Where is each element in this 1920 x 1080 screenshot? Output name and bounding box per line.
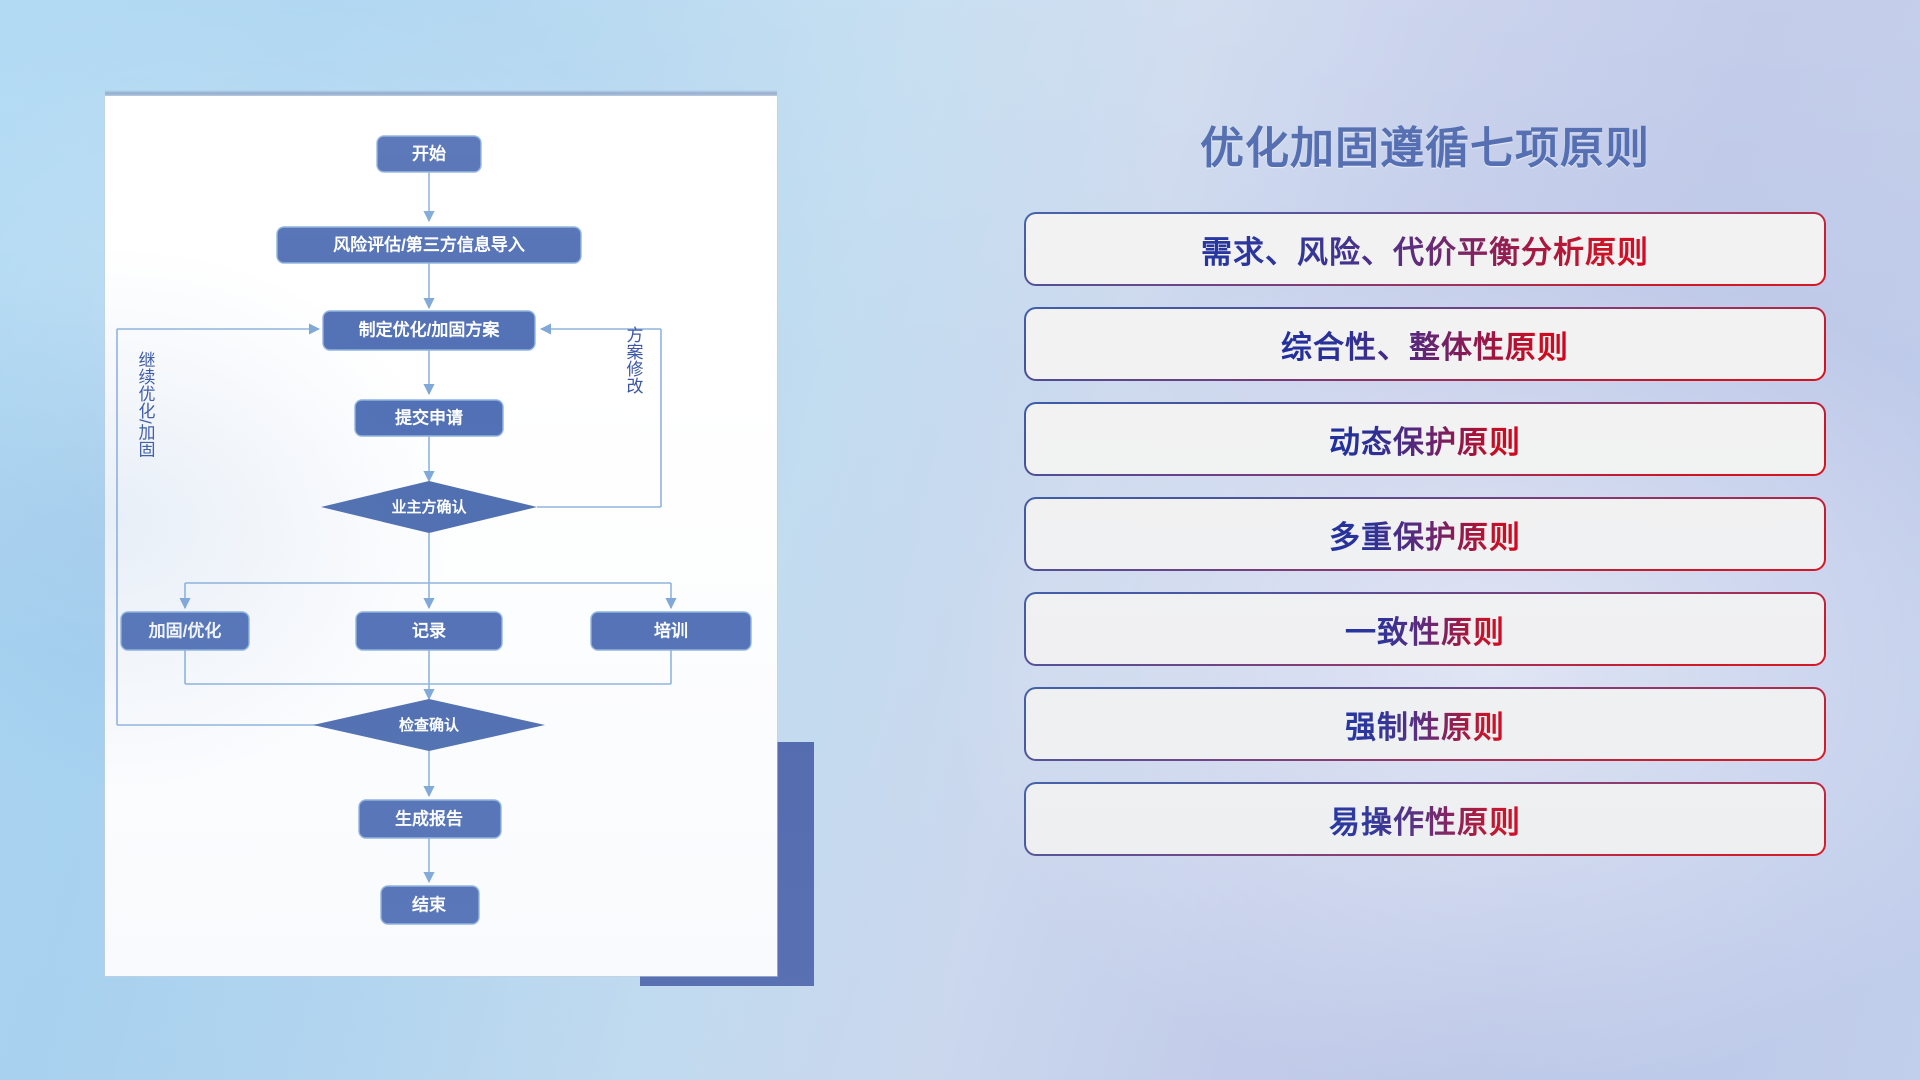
principle-item[interactable]: 强制性原则: [1024, 687, 1826, 761]
principle-item[interactable]: 易操作性原则: [1024, 782, 1826, 856]
flow-node-end-label: 结束: [412, 894, 446, 914]
principle-item-inner: 强制性原则: [1026, 689, 1824, 759]
principle-item[interactable]: 需求、风险、代价平衡分析原则: [1024, 212, 1826, 286]
principle-item-inner: 易操作性原则: [1026, 784, 1824, 854]
principle-item-inner: 多重保护原则: [1026, 499, 1824, 569]
flow-node-plan-label: 制定优化/加固方案: [359, 319, 501, 339]
flowchart-card: 开始 风险评估/第三方信息导入 制定优化/加固方案 提交申请 业主方确认: [105, 96, 777, 976]
flowchart-svg: 开始 风险评估/第三方信息导入 制定优化/加固方案 提交申请 业主方确认: [105, 96, 777, 976]
flow-node-submit[interactable]: 提交申请: [355, 400, 503, 436]
flow-node-check[interactable]: 检查确认: [313, 699, 545, 751]
principle-item-inner: 一致性原则: [1026, 594, 1824, 664]
principle-item-label: 综合性、整体性原则: [1281, 322, 1569, 367]
edge-label-continue-optimize: 继续优化/加固: [136, 351, 156, 458]
flow-node-record[interactable]: 记录: [356, 612, 502, 650]
principle-item-label: 多重保护原则: [1329, 512, 1521, 557]
flow-node-risk[interactable]: 风险评估/第三方信息导入: [277, 227, 581, 263]
flow-node-training[interactable]: 培训: [591, 612, 751, 650]
principle-item-label: 动态保护原则: [1329, 417, 1521, 462]
flow-node-plan[interactable]: 制定优化/加固方案: [323, 311, 535, 350]
principle-item-label: 强制性原则: [1345, 702, 1505, 747]
flow-node-risk-label: 风险评估/第三方信息导入: [333, 234, 525, 254]
slide-canvas: 开始 风险评估/第三方信息导入 制定优化/加固方案 提交申请 业主方确认: [0, 0, 1920, 1080]
principles-list: 需求、风险、代价平衡分析原则 综合性、整体性原则 动态保护原则 多重保护原则: [1020, 212, 1830, 856]
principle-item-label: 需求、风险、代价平衡分析原则: [1201, 227, 1649, 272]
principle-item-label: 易操作性原则: [1329, 797, 1521, 842]
flow-node-submit-label: 提交申请: [395, 407, 463, 427]
flow-node-owner-confirm-label: 业主方确认: [391, 498, 467, 516]
principle-item[interactable]: 动态保护原则: [1024, 402, 1826, 476]
principle-item[interactable]: 一致性原则: [1024, 592, 1826, 666]
flow-node-report[interactable]: 生成报告: [359, 800, 501, 838]
principle-item-inner: 需求、风险、代价平衡分析原则: [1026, 214, 1824, 284]
flow-node-report-label: 生成报告: [395, 808, 463, 828]
flow-node-training-label: 培训: [654, 620, 688, 640]
flow-node-start-label: 开始: [412, 143, 446, 163]
flow-node-start[interactable]: 开始: [377, 136, 481, 172]
principle-item-inner: 综合性、整体性原则: [1026, 309, 1824, 379]
principle-item[interactable]: 多重保护原则: [1024, 497, 1826, 571]
flow-node-reinforce[interactable]: 加固/优化: [121, 612, 249, 650]
principles-panel: 优化加固遵循七项原则 需求、风险、代价平衡分析原则 综合性、整体性原则 动态保护…: [1020, 96, 1830, 1006]
flow-node-end[interactable]: 结束: [381, 886, 479, 924]
principle-item[interactable]: 综合性、整体性原则: [1024, 307, 1826, 381]
flow-node-owner-confirm[interactable]: 业主方确认: [321, 481, 537, 533]
flow-node-reinforce-label: 加固/优化: [148, 620, 222, 640]
edge-label-plan-revision: 方案修改: [624, 326, 644, 394]
flow-node-check-label: 检查确认: [399, 716, 460, 734]
flowchart-connectors: [117, 172, 671, 882]
principles-title: 优化加固遵循七项原则: [1020, 112, 1830, 176]
flow-node-record-label: 记录: [412, 621, 446, 640]
principle-item-label: 一致性原则: [1345, 607, 1505, 652]
principle-item-inner: 动态保护原则: [1026, 404, 1824, 474]
